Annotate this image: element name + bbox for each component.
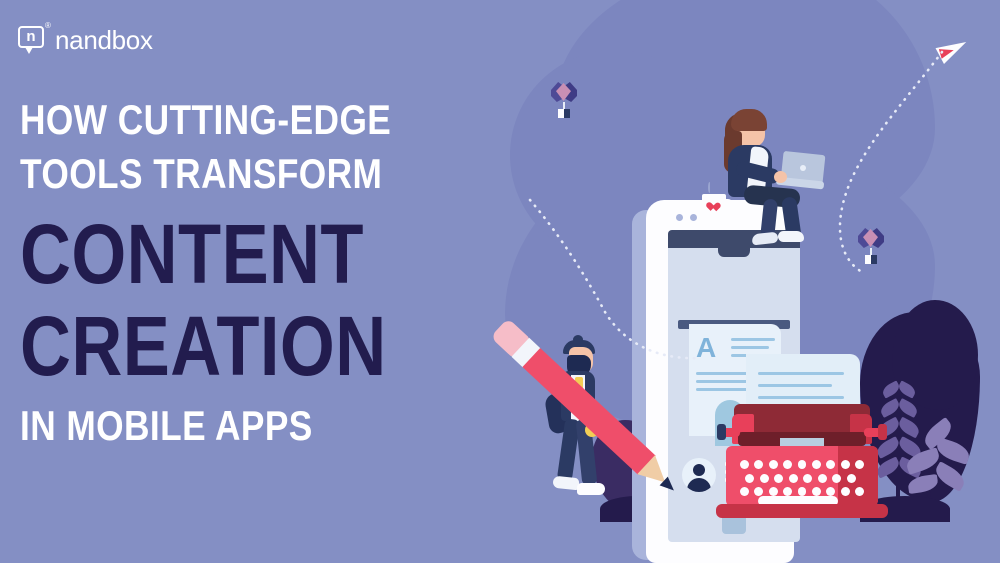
typewriter-keys xyxy=(740,460,864,501)
headline-line-1: HOW CUTTING-EDGE xyxy=(20,96,373,144)
headline-line-2: TOOLS TRANSFORM xyxy=(20,150,373,198)
pencil-barrel xyxy=(522,348,655,475)
registered-trademark-icon: ® xyxy=(45,22,51,30)
heart-icon xyxy=(709,199,719,208)
phone-camera-dots xyxy=(676,214,697,221)
typewriter xyxy=(718,388,888,538)
headline-line-3: CONTENT xyxy=(20,208,373,300)
headline-line-5: IN MOBILE APPS xyxy=(20,402,373,450)
giant-pencil-icon xyxy=(508,318,728,508)
balloon-basket-shade xyxy=(564,109,570,118)
headline-line-4: CREATION xyxy=(20,300,373,392)
hand xyxy=(774,171,787,183)
pencil-body-group xyxy=(486,318,683,505)
coffee-mug-icon xyxy=(700,188,734,216)
laptop-logo xyxy=(800,165,806,171)
speech-bubble-n-icon: n ® xyxy=(18,22,46,56)
brand-name: nandbox xyxy=(55,27,153,53)
brand-logo[interactable]: n ® nandbox xyxy=(18,22,153,56)
hot-air-balloon-icon xyxy=(858,226,884,264)
hot-air-balloon-icon xyxy=(551,80,577,118)
woman-with-laptop xyxy=(700,105,840,240)
typewriter-knob-cap-right xyxy=(878,424,887,440)
balloon-basket-shade xyxy=(871,255,877,264)
typewriter-base xyxy=(716,504,888,518)
steam xyxy=(708,182,711,193)
phone-notch xyxy=(718,248,750,257)
hair-top xyxy=(731,109,767,131)
blog-feature-banner: n ® nandbox HOW CUTTING-EDGE TOOLS TRANS… xyxy=(0,0,1000,563)
paper-plane-icon xyxy=(938,38,972,66)
shoe-front xyxy=(778,231,804,242)
balloon-envelope xyxy=(551,80,577,104)
speech-bubble-tail xyxy=(25,47,33,54)
headline-block: HOW CUTTING-EDGE TOOLS TRANSFORM CONTENT… xyxy=(20,96,440,450)
logo-glyph: n xyxy=(18,26,44,48)
balloon-envelope xyxy=(858,226,884,250)
